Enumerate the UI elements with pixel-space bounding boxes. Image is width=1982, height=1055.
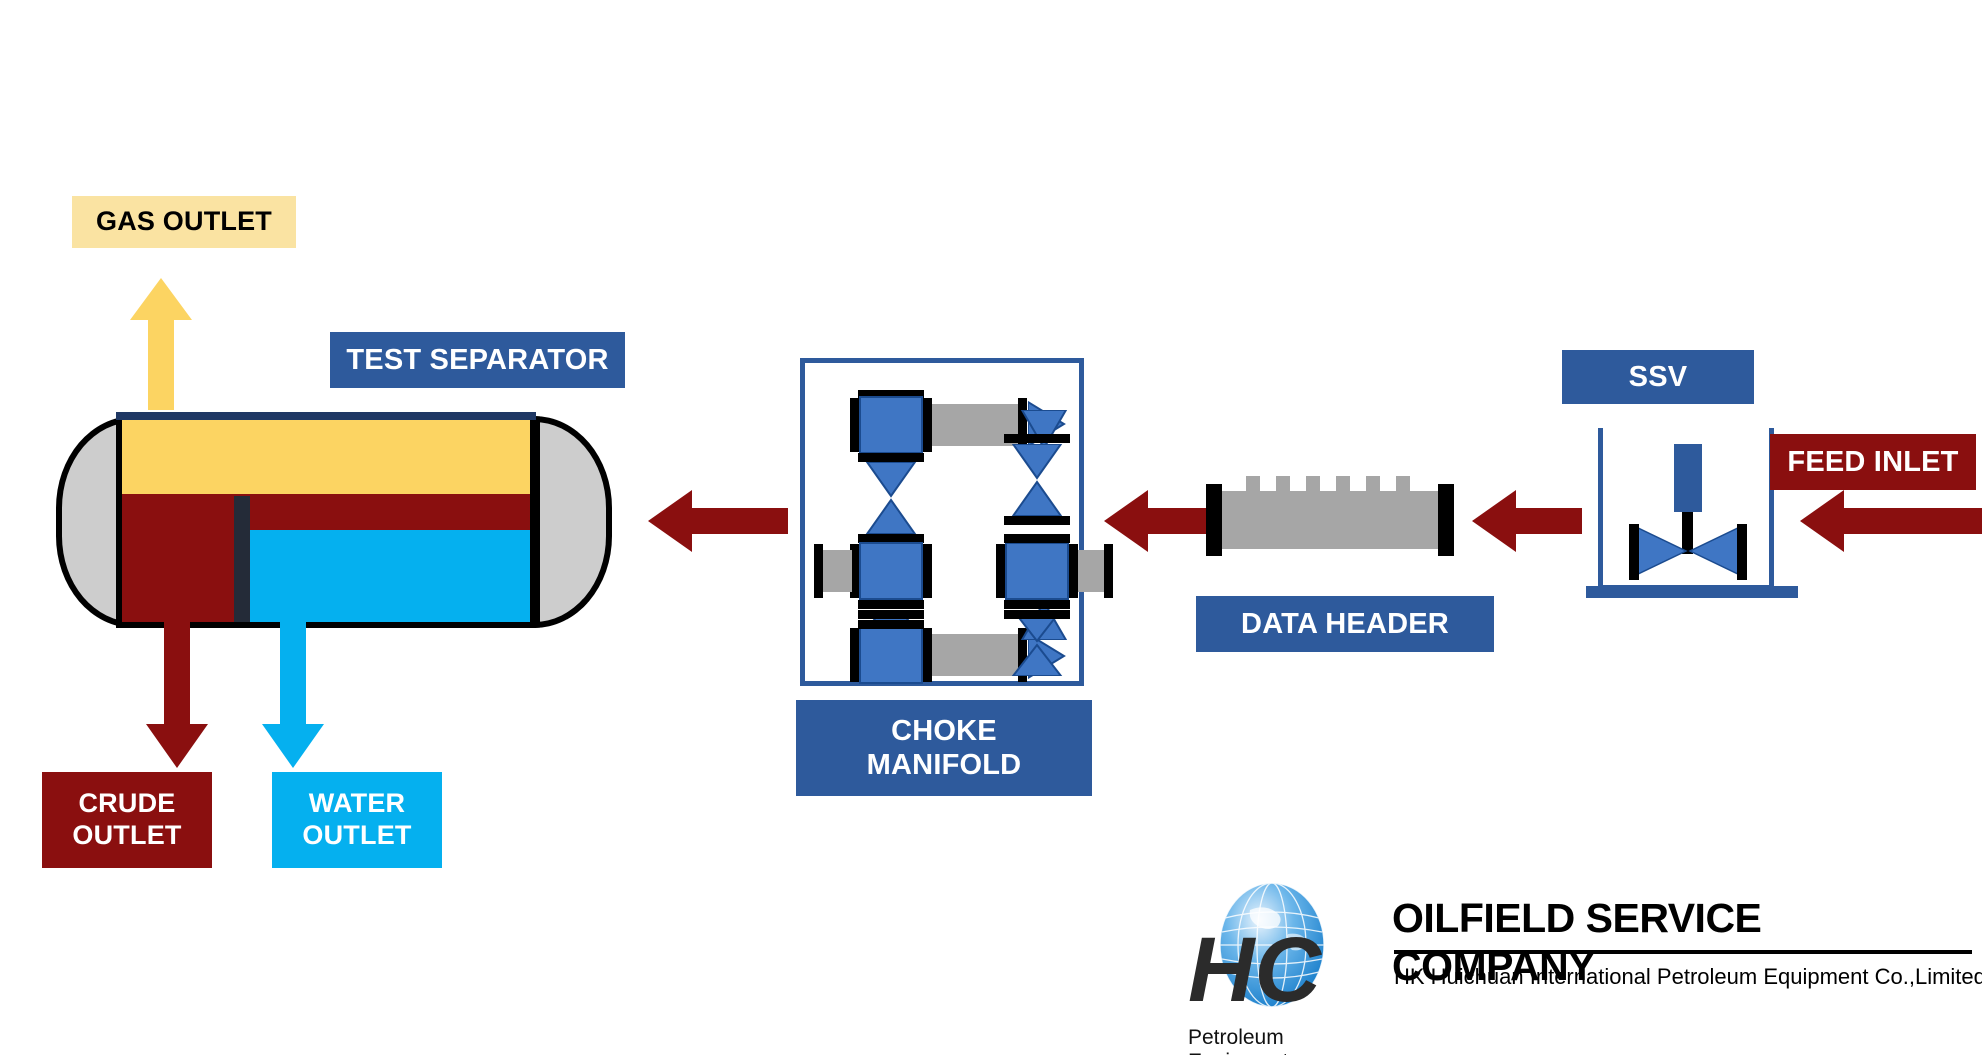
- gas-outlet-arrow: [130, 278, 192, 410]
- ssv-seat-left: [1629, 524, 1639, 580]
- logo-mark-text: HC: [1188, 924, 1358, 1016]
- choke-manifold-label: CHOKE MANIFOLD: [796, 700, 1092, 796]
- valve-mid-left[interactable]: [859, 542, 923, 600]
- water-outlet-arrow: [262, 620, 324, 768]
- bowtie-left-upper[interactable]: [864, 462, 918, 534]
- separator-water-phase: [250, 530, 530, 622]
- flow-arrow-manifold-to-separator: [648, 490, 788, 552]
- ssv-base-skid: [1586, 586, 1798, 598]
- choke-manifold-unit: [800, 358, 1084, 686]
- valve-bot-left[interactable]: [859, 626, 923, 684]
- ssv-unit: [1586, 428, 1798, 616]
- crude-outlet-label: CRUDE OUTLET: [42, 772, 212, 868]
- data-header-flange-right: [1438, 484, 1454, 556]
- ssv-valve-bowtie[interactable]: [1631, 526, 1745, 576]
- data-header-nipple-4: [1336, 476, 1350, 492]
- data-header-nipple-3: [1306, 476, 1320, 492]
- flow-arrow-ssv-to-header: [1472, 490, 1582, 552]
- spool-right-inlet: [1078, 550, 1106, 592]
- separator-gas-phase: [122, 420, 530, 494]
- logo-company-subtitle: HK Huichuan International Petroleum Equi…: [1394, 962, 1982, 992]
- logo-divider-rule: [1394, 950, 1972, 954]
- flange-top-left-west: [850, 398, 859, 452]
- bowtie-right-lower[interactable]: [1010, 610, 1064, 676]
- spool-left-outlet: [822, 550, 852, 592]
- flow-arrow-header-to-manifold: [1104, 490, 1214, 552]
- separator-shell: [116, 420, 536, 628]
- flange-mid-right-east: [1069, 544, 1078, 598]
- valve-top-left[interactable]: [859, 396, 923, 454]
- water-outlet-label: WATER OUTLET: [272, 772, 442, 868]
- flange-bot-left-upper: [858, 610, 924, 619]
- flange-top-left-lower: [858, 453, 924, 462]
- test-separator-vessel: [56, 412, 612, 632]
- bowtie-right-upper[interactable]: [1010, 444, 1064, 516]
- flange-right-upper-a: [1004, 434, 1070, 443]
- flange-right-upper-b: [1004, 516, 1070, 525]
- data-header-nipple-1: [1246, 476, 1260, 492]
- data-header-nipple-6: [1396, 476, 1410, 492]
- data-header-body: [1220, 491, 1440, 549]
- flange-mid-left-lower: [858, 600, 924, 609]
- flange-bot-left-west: [850, 628, 859, 682]
- data-header-nipple-2: [1276, 476, 1290, 492]
- flange-right-lower-a: [1004, 610, 1070, 619]
- separator-right-head: [534, 416, 612, 628]
- data-header-label: DATA HEADER: [1196, 596, 1494, 652]
- flange-mid-right-lower: [1004, 600, 1070, 609]
- flange-mid-right-upper: [1004, 534, 1070, 543]
- flange-bot-left-top: [858, 620, 924, 629]
- separator-weir-plate: [234, 496, 250, 622]
- logo-mark-tagline: Petroleum Equipment: [1188, 1026, 1388, 1055]
- data-header-unit: [1206, 476, 1456, 566]
- crude-outlet-arrow: [146, 620, 208, 768]
- test-separator-label: TEST SEPARATOR: [330, 332, 625, 388]
- gas-outlet-label: GAS OUTLET: [72, 196, 296, 248]
- valve-mid-right[interactable]: [1005, 542, 1069, 600]
- flow-arrow-feed-inlet: [1800, 490, 1982, 552]
- flange-mid-left-east: [923, 544, 932, 598]
- flange-right-inlet: [1104, 544, 1113, 598]
- ssv-seat-right: [1737, 524, 1747, 580]
- company-logo: HC Petroleum Equipment OILFIELD SERVICE …: [1168, 876, 1968, 1052]
- flange-top-left-east: [923, 398, 932, 452]
- flange-left-outlet: [814, 544, 823, 598]
- flange-mid-right-west: [996, 544, 1005, 598]
- ssv-actuator[interactable]: [1674, 444, 1702, 512]
- process-flow-diagram: GAS OUTLET TEST SEPARATOR: [0, 0, 1982, 1055]
- feed-inlet-label: FEED INLET: [1770, 434, 1976, 490]
- flange-bot-left-east: [923, 628, 932, 682]
- data-header-nipple-5: [1366, 476, 1380, 492]
- data-header-flange-left: [1206, 484, 1222, 556]
- spool-bottom: [932, 634, 1018, 676]
- ssv-label: SSV: [1562, 350, 1754, 404]
